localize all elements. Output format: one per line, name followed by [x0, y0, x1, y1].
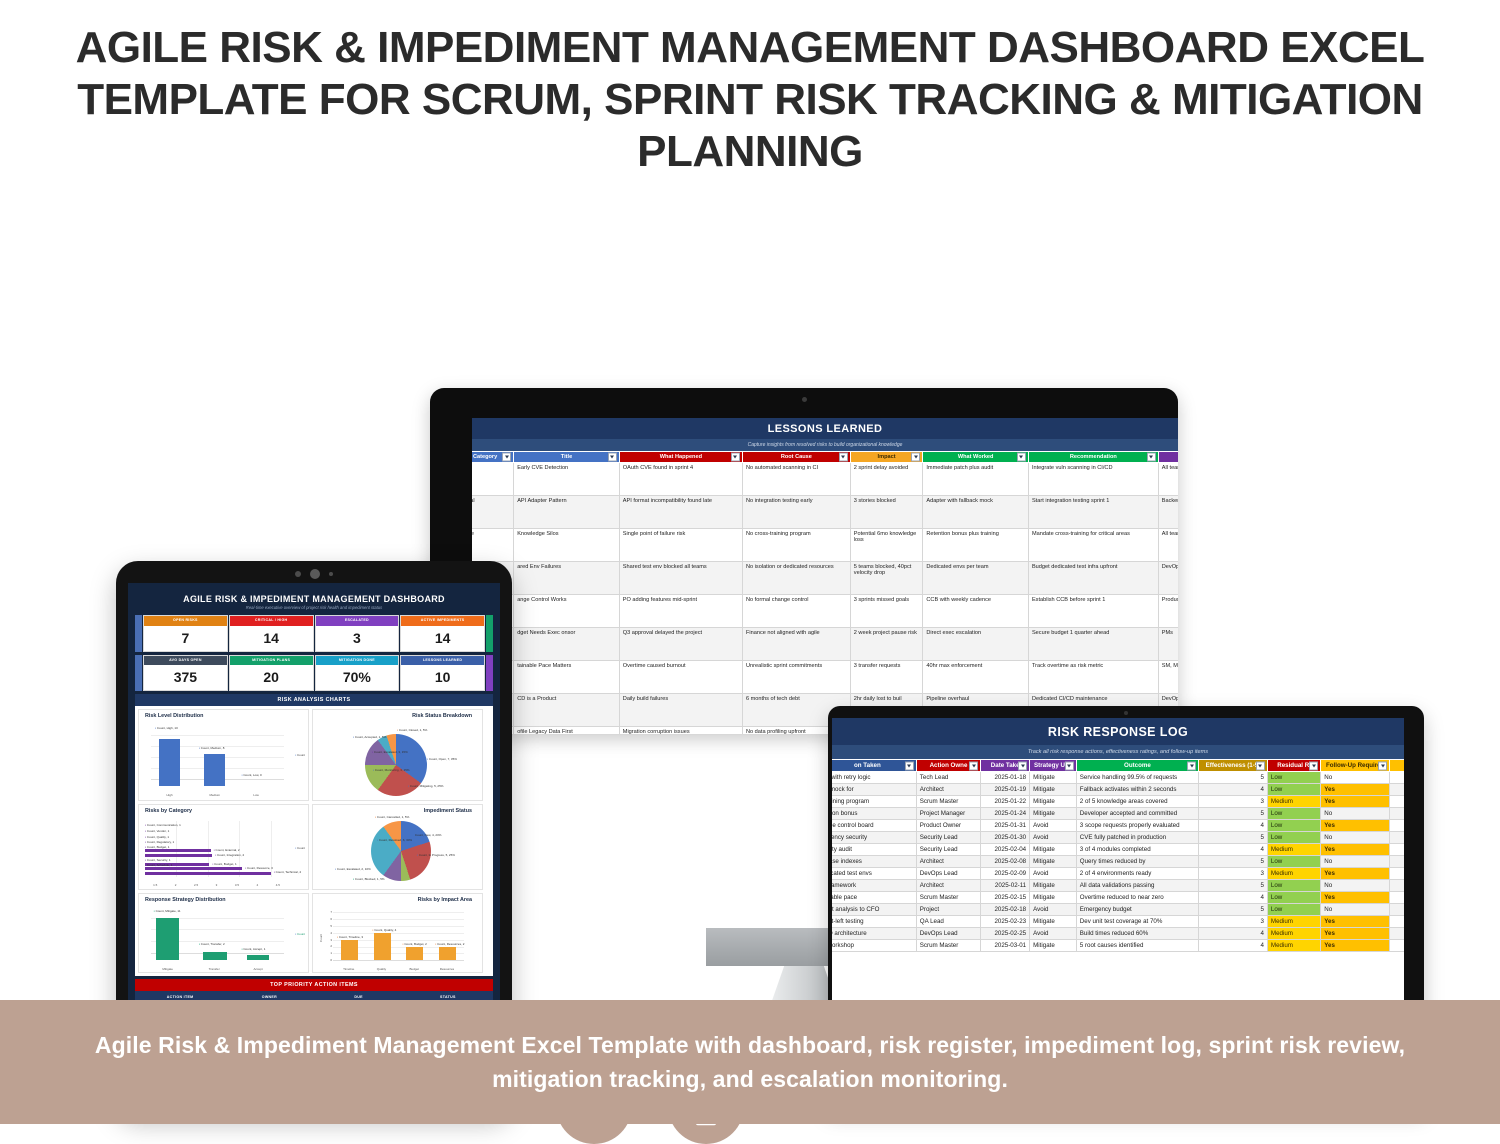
- y-tick: 3: [330, 938, 332, 942]
- filter-dropdown-icon[interactable]: [1018, 761, 1027, 770]
- table-cell[interactable]: 2025-02-15: [981, 892, 1030, 904]
- filter-dropdown-icon[interactable]: [608, 453, 617, 462]
- table-cell[interactable]: 3: [1199, 916, 1268, 928]
- table-cell[interactable]: Dedicated envs per team: [923, 562, 1029, 595]
- kpi-card[interactable]: MITIGATION PLANS20: [229, 655, 314, 692]
- table-cell[interactable]: 40hr max enforcement: [923, 661, 1029, 694]
- chart-title: Risks by Category: [139, 805, 308, 814]
- table-cell[interactable]: 3 of 4 modules completed: [1076, 844, 1198, 856]
- table-cell[interactable]: No: [1321, 832, 1390, 844]
- filter-dropdown-icon[interactable]: [1065, 761, 1074, 770]
- table-cell[interactable]: Overtime caused burnout: [619, 661, 742, 694]
- table-cell[interactable]: Security Lead: [916, 832, 980, 844]
- filter-dropdown-icon[interactable]: [731, 453, 740, 462]
- table-cell[interactable]: 5: [1199, 772, 1268, 784]
- table-cell[interactable]: All data validations passing: [1076, 880, 1198, 892]
- column-header[interactable]: Fo: [1390, 760, 1404, 772]
- table-cell[interactable]: Yes: [1321, 784, 1390, 796]
- table-row[interactable]: ention bonusProject Manager2025-01-24Mit…: [832, 808, 1404, 820]
- table-cell[interactable]: Low: [1267, 784, 1320, 796]
- table-cell[interactable]: Shared test env blocked all teams: [619, 562, 742, 595]
- table-row[interactable]: hnicalAPI Adapter PatternAPI format inco…: [472, 496, 1178, 529]
- filter-dropdown-icon[interactable]: [1378, 761, 1387, 770]
- table-cell[interactable]: Security Lead: [916, 844, 980, 856]
- data-label: Count, External, 2: [214, 848, 240, 852]
- table-cell[interactable]: [1390, 856, 1404, 868]
- table-cell[interactable]: /CD architecture: [832, 928, 916, 940]
- table-cell[interactable]: Scrum Master: [916, 796, 980, 808]
- table-cell[interactable]: Yes: [1321, 796, 1390, 808]
- table-cell[interactable]: Yes: [1321, 892, 1390, 904]
- table-cell[interactable]: All teams: [1158, 529, 1178, 562]
- table-cell[interactable]: Establish CCB before sprint 1: [1028, 595, 1158, 628]
- plot-area: Count, High, 10 Count, Medium, 8 Count, …: [151, 730, 284, 786]
- table-cell[interactable]: 2025-02-09: [981, 868, 1030, 880]
- table-cell[interactable]: 2025-01-18: [981, 772, 1030, 784]
- table-cell[interactable]: ter with retry logic: [832, 772, 916, 784]
- table-cell[interactable]: Q3 approval delayed the project: [619, 628, 742, 661]
- action-items-band-label: TOP PRIORITY ACTION ITEMS: [135, 979, 493, 991]
- column-header[interactable]: What Worked: [923, 452, 1029, 463]
- table-cell[interactable]: [1390, 832, 1404, 844]
- x-tick: Timeline: [333, 967, 364, 971]
- table-cell[interactable]: Knowledge Silos: [514, 529, 620, 562]
- table-cell[interactable]: [1390, 772, 1404, 784]
- kpi-label: ESCALATED: [316, 616, 399, 626]
- table-cell[interactable]: 2025-01-31: [981, 820, 1030, 832]
- table-cell[interactable]: Build times reduced 60%: [1076, 928, 1198, 940]
- table-cell[interactable]: PMs: [1158, 628, 1178, 661]
- chart-risks-by-impact-area: Risks by Impact Area Count 76543210: [312, 893, 483, 973]
- table-cell[interactable]: Medium: [1267, 940, 1320, 952]
- table-cell[interactable]: Architect: [916, 856, 980, 868]
- table-cell[interactable]: 2025-03-01: [981, 940, 1030, 952]
- table-cell[interactable]: Secure budget 1 quarter ahead: [1028, 628, 1158, 661]
- table-cell[interactable]: Potential 6mo knowledge loss: [850, 529, 923, 562]
- table-cell[interactable]: Emergency budget: [1076, 904, 1198, 916]
- bar-mitigate: [156, 918, 179, 960]
- table-cell[interactable]: Unrealistic sprint commitments: [742, 661, 850, 694]
- table-cell[interactable]: n framework: [832, 880, 916, 892]
- table-cell[interactable]: Finance not aligned with agile: [742, 628, 850, 661]
- table-cell[interactable]: urity: [472, 463, 514, 496]
- table-row[interactable]: -training programScrum Master2025-01-22M…: [832, 796, 1404, 808]
- table-row[interactable]: ck mock forArchitect2025-01-19MitigateFa…: [832, 784, 1404, 796]
- table-row[interactable]: pact analysis to CFOProject2025-02-18Avo…: [832, 904, 1404, 916]
- table-cell[interactable]: CCB with weekly cadence: [923, 595, 1029, 628]
- table-cell[interactable]: No isolation or dedicated resources: [742, 562, 850, 595]
- table-cell[interactable]: 5: [1199, 808, 1268, 820]
- kpi-value: 7: [144, 626, 227, 651]
- table-cell[interactable]: Yes: [1321, 916, 1390, 928]
- table-cell[interactable]: edicated test envs: [832, 868, 916, 880]
- table-row[interactable]: curity auditSecurity Lead2025-02-04Mitig…: [832, 844, 1404, 856]
- column-header[interactable]: Category: [472, 452, 514, 463]
- column-header[interactable]: Root Cause: [742, 452, 850, 463]
- filter-dropdown-icon[interactable]: [905, 761, 914, 770]
- table-row[interactable]: /CD architectureDevOps Lead2025-02-25Avo…: [832, 928, 1404, 940]
- table-cell[interactable]: ource: [472, 529, 514, 562]
- kpi-card[interactable]: CRITICAL / HIGH14: [229, 615, 314, 652]
- filter-dropdown-icon[interactable]: [1017, 453, 1026, 462]
- table-cell[interactable]: Avoid: [1030, 832, 1077, 844]
- table-cell[interactable]: SM, Mgmt: [1158, 661, 1178, 694]
- table-cell[interactable]: Yes: [1321, 820, 1390, 832]
- table-cell[interactable]: Low: [1267, 772, 1320, 784]
- kpi-value: 3: [316, 626, 399, 651]
- table-cell[interactable]: 5: [1199, 856, 1268, 868]
- table-cell[interactable]: CD is a Product: [514, 694, 620, 727]
- lessons-learned-title: LESSONS LEARNED: [472, 418, 1178, 439]
- table-cell[interactable]: 3 transfer requests: [850, 661, 923, 694]
- table-cell[interactable]: 2025-01-30: [981, 832, 1030, 844]
- table-cell[interactable]: shift-left testing: [832, 916, 916, 928]
- table-cell[interactable]: No: [1321, 856, 1390, 868]
- table-cell[interactable]: QA Lead: [916, 916, 980, 928]
- table-cell[interactable]: Architect: [916, 784, 980, 796]
- table-cell[interactable]: Avoid: [1030, 928, 1077, 940]
- table-cell[interactable]: No: [1321, 880, 1390, 892]
- y-tick: 4: [330, 931, 332, 935]
- table-cell[interactable]: Service handling 99.5% of requests: [1076, 772, 1198, 784]
- table-cell[interactable]: 4: [1199, 820, 1268, 832]
- table-row[interactable]: ergency securitySecurity Lead2025-01-30A…: [832, 832, 1404, 844]
- table-cell[interactable]: 2025-01-22: [981, 796, 1030, 808]
- filter-dropdown-icon[interactable]: [911, 453, 920, 462]
- table-cell[interactable]: Low: [1267, 820, 1320, 832]
- table-row[interactable]: A workshopScrum Master2025-03-01Mitigate…: [832, 940, 1404, 952]
- table-row[interactable]: urityEarly CVE DetectionOAuth CVE found …: [472, 463, 1178, 496]
- kpi-card[interactable]: ESCALATED3: [315, 615, 400, 652]
- table-cell[interactable]: 2: [1390, 796, 1404, 808]
- table-cell[interactable]: 2025-01-24: [981, 808, 1030, 820]
- table-cell[interactable]: 4: [1199, 892, 1268, 904]
- x-tick: 2.5: [186, 883, 206, 887]
- table-cell[interactable]: ofile Legacy Data First: [514, 727, 620, 735]
- data-label: Count, Escalated, 2, 10%: [335, 867, 371, 871]
- table-cell[interactable]: API format incompatibility found late: [619, 496, 742, 529]
- chart-title: Risks by Impact Area: [313, 894, 482, 903]
- table-row[interactable]: ainable paceScrum Master2025-02-15Mitiga…: [832, 892, 1404, 904]
- chart-impediment-status: Impediment Status Count, Cancelled, 1, 5…: [312, 804, 483, 890]
- table-cell[interactable]: ck mock for: [832, 784, 916, 796]
- table-cell[interactable]: 2: [1390, 820, 1404, 832]
- table-cell[interactable]: ange control board: [832, 820, 916, 832]
- table-cell[interactable]: Immediate patch plus audit: [923, 463, 1029, 496]
- table-cell[interactable]: Tech Lead: [916, 772, 980, 784]
- table-cell[interactable]: 4: [1199, 784, 1268, 796]
- table-cell[interactable]: Low: [1267, 808, 1320, 820]
- kpi-value: 14: [230, 626, 313, 651]
- data-label: Count, Open, 7, 35%: [427, 757, 457, 761]
- table-cell[interactable]: 5: [1199, 832, 1268, 844]
- kpi-label: MITIGATION DONE: [316, 656, 399, 666]
- kpi-card[interactable]: OPEN RISKS7: [143, 615, 228, 652]
- table-cell[interactable]: Low: [1267, 904, 1320, 916]
- table-cell[interactable]: No cross-training program: [742, 529, 850, 562]
- table-cell[interactable]: 3 stories blocked: [850, 496, 923, 529]
- table-cell[interactable]: Adapter with fallback mock: [923, 496, 1029, 529]
- table-cell[interactable]: 2: [1390, 844, 1404, 856]
- x-tick: Low: [241, 793, 270, 797]
- table-cell[interactable]: Track overtime as risk metric: [1028, 661, 1158, 694]
- table-cell[interactable]: Direct exec escalation: [923, 628, 1029, 661]
- table-cell[interactable]: 2 of 5 knowledge areas covered: [1076, 796, 1198, 808]
- data-label: Count, Vendor, 1: [145, 829, 169, 833]
- table-cell[interactable]: dget Needs Exec onsor: [514, 628, 620, 661]
- table-cell[interactable]: Architect: [916, 880, 980, 892]
- table-cell[interactable]: 2025-01-19: [981, 784, 1030, 796]
- table-cell[interactable]: Yes: [1321, 844, 1390, 856]
- table-row[interactable]: abase indexesArchitect2025-02-08Mitigate…: [832, 856, 1404, 868]
- table-cell[interactable]: Low: [1267, 856, 1320, 868]
- filter-dropdown-icon[interactable]: [1187, 761, 1196, 770]
- table-cell[interactable]: curity audit: [832, 844, 916, 856]
- table-cell[interactable]: Mitigate: [1030, 892, 1077, 904]
- filter-dropdown-icon[interactable]: [839, 453, 848, 462]
- table-cell[interactable]: 4: [1199, 940, 1268, 952]
- column-header[interactable]: Applic: [1158, 452, 1178, 463]
- table-cell[interactable]: 2 week project pause risk: [850, 628, 923, 661]
- table-cell[interactable]: Mitigate: [1030, 940, 1077, 952]
- table-cell[interactable]: ared Env Failures: [514, 562, 620, 595]
- bar-transfer: [203, 952, 227, 960]
- table-cell[interactable]: API Adapter Pattern: [514, 496, 620, 529]
- table-cell[interactable]: -training program: [832, 796, 916, 808]
- table-cell[interactable]: Developer accepted and committed: [1076, 808, 1198, 820]
- table-row[interactable]: shift-left testingQA Lead2025-02-23Mitig…: [832, 916, 1404, 928]
- table-cell[interactable]: 5: [1199, 880, 1268, 892]
- table-cell[interactable]: Project Manager: [916, 808, 980, 820]
- table-cell[interactable]: Overtime reduced to near zero: [1076, 892, 1198, 904]
- data-label: Count, Budget, 1: [212, 862, 236, 866]
- table-cell[interactable]: [1390, 808, 1404, 820]
- data-label: Count, Mitigating, 5, 25%: [408, 784, 443, 788]
- table-cell[interactable]: No: [1321, 904, 1390, 916]
- table-cell[interactable]: 2: [1390, 940, 1404, 952]
- table-cell[interactable]: Medium: [1267, 916, 1320, 928]
- table-cell[interactable]: Medium: [1267, 928, 1320, 940]
- filter-dropdown-icon[interactable]: [1309, 761, 1318, 770]
- table-cell[interactable]: Product Owner: [916, 820, 980, 832]
- table-cell[interactable]: Early CVE Detection: [514, 463, 620, 496]
- table-cell[interactable]: No formal change control: [742, 595, 850, 628]
- kpi-card[interactable]: MITIGATION DONE70%: [315, 655, 400, 692]
- table-cell[interactable]: Mitigate: [1030, 772, 1077, 784]
- risk-response-log-subtitle: Track all risk response actions, effecti…: [832, 745, 1404, 759]
- table-cell[interactable]: 2025-02-04: [981, 844, 1030, 856]
- y-tick: 5: [330, 924, 332, 928]
- table-cell[interactable]: tainable Pace Matters: [514, 661, 620, 694]
- table-cell[interactable]: Low: [1267, 832, 1320, 844]
- table-row[interactable]: n frameworkArchitect2025-02-11MitigateAl…: [832, 880, 1404, 892]
- table-cell[interactable]: 3 scope requests properly evaluated: [1076, 820, 1198, 832]
- table-cell[interactable]: Retention bonus plus training: [923, 529, 1029, 562]
- table-cell[interactable]: No automated scanning in CI: [742, 463, 850, 496]
- table-cell[interactable]: Budget dedicated test infra upfront: [1028, 562, 1158, 595]
- column-header[interactable]: Impact: [850, 452, 923, 463]
- table-cell[interactable]: ergency security: [832, 832, 916, 844]
- kpi-card[interactable]: AVG DAYS OPEN375: [143, 655, 228, 692]
- table-cell[interactable]: ention bonus: [832, 808, 916, 820]
- table-cell[interactable]: No integration testing early: [742, 496, 850, 529]
- table-cell[interactable]: 2: [1390, 868, 1404, 880]
- table-cell[interactable]: Scrum Master: [916, 940, 980, 952]
- table-cell[interactable]: [1390, 904, 1404, 916]
- table-cell[interactable]: 2025-02-11: [981, 880, 1030, 892]
- table-cell[interactable]: pact analysis to CFO: [832, 904, 916, 916]
- filter-dropdown-icon[interactable]: [502, 453, 511, 462]
- kpi-card[interactable]: ACTIVE IMPEDIMENTS14: [400, 615, 485, 652]
- column-header[interactable]: Strategy Use: [1030, 760, 1077, 772]
- kpi-label: AVG DAYS OPEN: [144, 656, 227, 666]
- table-cell[interactable]: 2 sprint delay avoided: [850, 463, 923, 496]
- table-cell[interactable]: Medium: [1267, 796, 1320, 808]
- plot-area: Count, Timeline, 3 Count, Quality, 4 Cou…: [333, 912, 464, 960]
- chart-legend: Count: [295, 846, 305, 850]
- filter-dropdown-icon[interactable]: [1147, 453, 1156, 462]
- table-cell[interactable]: 5: [1199, 904, 1268, 916]
- table-cell[interactable]: Medium: [1267, 868, 1320, 880]
- table-cell[interactable]: Avoid: [1030, 868, 1077, 880]
- table-cell[interactable]: 2 of 4 environments ready: [1076, 868, 1198, 880]
- table-cell[interactable]: 3: [1199, 796, 1268, 808]
- table-cell[interactable]: 2: [1390, 916, 1404, 928]
- column-header[interactable]: Date Take: [981, 760, 1030, 772]
- table-cell[interactable]: Project: [916, 904, 980, 916]
- table-cell[interactable]: [1390, 880, 1404, 892]
- table-cell[interactable]: DevOps, Q: [1158, 562, 1178, 595]
- table-cell[interactable]: Mandate cross-training for critical area…: [1028, 529, 1158, 562]
- column-header[interactable]: Title: [514, 452, 620, 463]
- kpi-edge: [486, 655, 493, 692]
- table-cell[interactable]: Yes: [1321, 928, 1390, 940]
- table-cell[interactable]: 2: [1390, 928, 1404, 940]
- table-cell[interactable]: Single point of failure risk: [619, 529, 742, 562]
- bar-resources: [439, 947, 456, 961]
- table-row[interactable]: dget Needs Exec onsorQ3 approval delayed…: [472, 628, 1178, 661]
- table-cell[interactable]: CVE fully patched in production: [1076, 832, 1198, 844]
- hbar-integration: [145, 854, 212, 857]
- y-tick: 0: [330, 958, 332, 962]
- table-cell[interactable]: All teams: [1158, 463, 1178, 496]
- table-row[interactable]: ared Env FailuresShared test env blocked…: [472, 562, 1178, 595]
- table-cell[interactable]: Mitigate: [1030, 844, 1077, 856]
- table-cell[interactable]: Low: [1267, 880, 1320, 892]
- bar-quality: [374, 933, 391, 960]
- table-cell[interactable]: ange Control Works: [514, 595, 620, 628]
- table-row[interactable]: ange Control WorksPO adding features mid…: [472, 595, 1178, 628]
- filter-dropdown-icon[interactable]: [1256, 761, 1265, 770]
- x-tick: 3.5: [227, 883, 247, 887]
- data-label: Count, New, 4, 20%: [413, 833, 441, 837]
- table-row[interactable]: tainable Pace MattersOvertime caused bur…: [472, 661, 1178, 694]
- dashboard-subtitle: Real-time executive overview of project …: [135, 605, 493, 615]
- y-tick: 1: [330, 951, 332, 955]
- table-cell[interactable]: 4: [1199, 928, 1268, 940]
- bar-high: [159, 739, 180, 786]
- table-cell[interactable]: Mitigate: [1030, 784, 1077, 796]
- table-cell[interactable]: No: [1321, 772, 1390, 784]
- table-cell[interactable]: 4: [1199, 844, 1268, 856]
- table-cell[interactable]: Query times reduced by: [1076, 856, 1198, 868]
- column-header[interactable]: Outcome: [1076, 760, 1198, 772]
- table-cell[interactable]: DevOps Lead: [916, 868, 980, 880]
- table-cell[interactable]: Backend: [1158, 496, 1178, 529]
- column-header[interactable]: Action Owne: [916, 760, 980, 772]
- table-cell[interactable]: Integrate vuln scanning in CI/CD: [1028, 463, 1158, 496]
- table-cell[interactable]: 2025-02-18: [981, 904, 1030, 916]
- table-cell[interactable]: PO adding features mid-sprint: [619, 595, 742, 628]
- table-cell[interactable]: A workshop: [832, 940, 916, 952]
- table-cell[interactable]: OAuth CVE found in sprint 4: [619, 463, 742, 496]
- table-cell[interactable]: Mitigate: [1030, 916, 1077, 928]
- table-cell[interactable]: Low: [1267, 892, 1320, 904]
- x-tick: Transfer: [198, 967, 231, 971]
- table-cell[interactable]: Mitigate: [1030, 796, 1077, 808]
- column-header[interactable]: Residual Ri: [1267, 760, 1320, 772]
- data-label: Count, Cancelled, 1, 5%: [375, 815, 409, 819]
- table-cell[interactable]: 3: [1199, 868, 1268, 880]
- table-cell[interactable]: hnical: [472, 496, 514, 529]
- column-header[interactable]: What Happened: [619, 452, 742, 463]
- table-cell[interactable]: 2: [1390, 784, 1404, 796]
- table-cell[interactable]: Scrum Master: [916, 892, 980, 904]
- table-row[interactable]: ange control boardProduct Owner2025-01-3…: [832, 820, 1404, 832]
- column-header[interactable]: Follow-Up Required: [1321, 760, 1390, 772]
- column-header[interactable]: Recommendation: [1028, 452, 1158, 463]
- table-row[interactable]: ourceKnowledge SilosSingle point of fail…: [472, 529, 1178, 562]
- table-cell[interactable]: 2: [1390, 892, 1404, 904]
- kpi-card[interactable]: LESSONS LEARNED10: [400, 655, 485, 692]
- table-cell[interactable]: Migration corruption issues: [619, 727, 742, 735]
- table-cell[interactable]: 3 sprints missed goals: [850, 595, 923, 628]
- table-cell[interactable]: Mitigate: [1030, 856, 1077, 868]
- table-cell[interactable]: Avoid: [1030, 904, 1077, 916]
- table-cell[interactable]: Start integration testing sprint 1: [1028, 496, 1158, 529]
- table-cell[interactable]: Fallback activates within 2 seconds: [1076, 784, 1198, 796]
- data-label: Count, Budget, 2: [402, 942, 426, 946]
- table-cell[interactable]: 2025-02-23: [981, 916, 1030, 928]
- filter-dropdown-icon[interactable]: [969, 761, 978, 770]
- table-cell[interactable]: Avoid: [1030, 820, 1077, 832]
- x-tick: Accept: [241, 967, 274, 971]
- table-cell[interactable]: 5 root causes identified: [1076, 940, 1198, 952]
- column-header[interactable]: Effectiveness (1-5): [1199, 760, 1268, 772]
- table-cell[interactable]: Yes: [1321, 940, 1390, 952]
- table-row[interactable]: edicated test envsDevOps Lead2025-02-09A…: [832, 868, 1404, 880]
- table-cell[interactable]: Dev unit test coverage at 70%: [1076, 916, 1198, 928]
- table-cell[interactable]: 2025-02-08: [981, 856, 1030, 868]
- table-cell[interactable]: 5 teams blocked, 40pct velocity drop: [850, 562, 923, 595]
- table-cell[interactable]: Daily build failures: [619, 694, 742, 727]
- table-cell[interactable]: Yes: [1321, 868, 1390, 880]
- table-cell[interactable]: 2025-02-25: [981, 928, 1030, 940]
- column-header[interactable]: on Taken: [832, 760, 916, 772]
- x-tick: 3: [206, 883, 226, 887]
- table-cell[interactable]: Product, S: [1158, 595, 1178, 628]
- table-cell[interactable]: Mitigate: [1030, 808, 1077, 820]
- data-label: Count, Security, 1: [145, 858, 171, 862]
- table-cell[interactable]: ainable pace: [832, 892, 916, 904]
- table-cell[interactable]: Mitigate: [1030, 880, 1077, 892]
- table-cell[interactable]: Medium: [1267, 844, 1320, 856]
- table-cell[interactable]: abase indexes: [832, 856, 916, 868]
- table-cell[interactable]: No: [1321, 808, 1390, 820]
- data-label: Count, Resources, 2: [435, 942, 464, 946]
- table-cell[interactable]: DevOps Lead: [916, 928, 980, 940]
- table-row[interactable]: ter with retry logicTech Lead2025-01-18M…: [832, 772, 1404, 784]
